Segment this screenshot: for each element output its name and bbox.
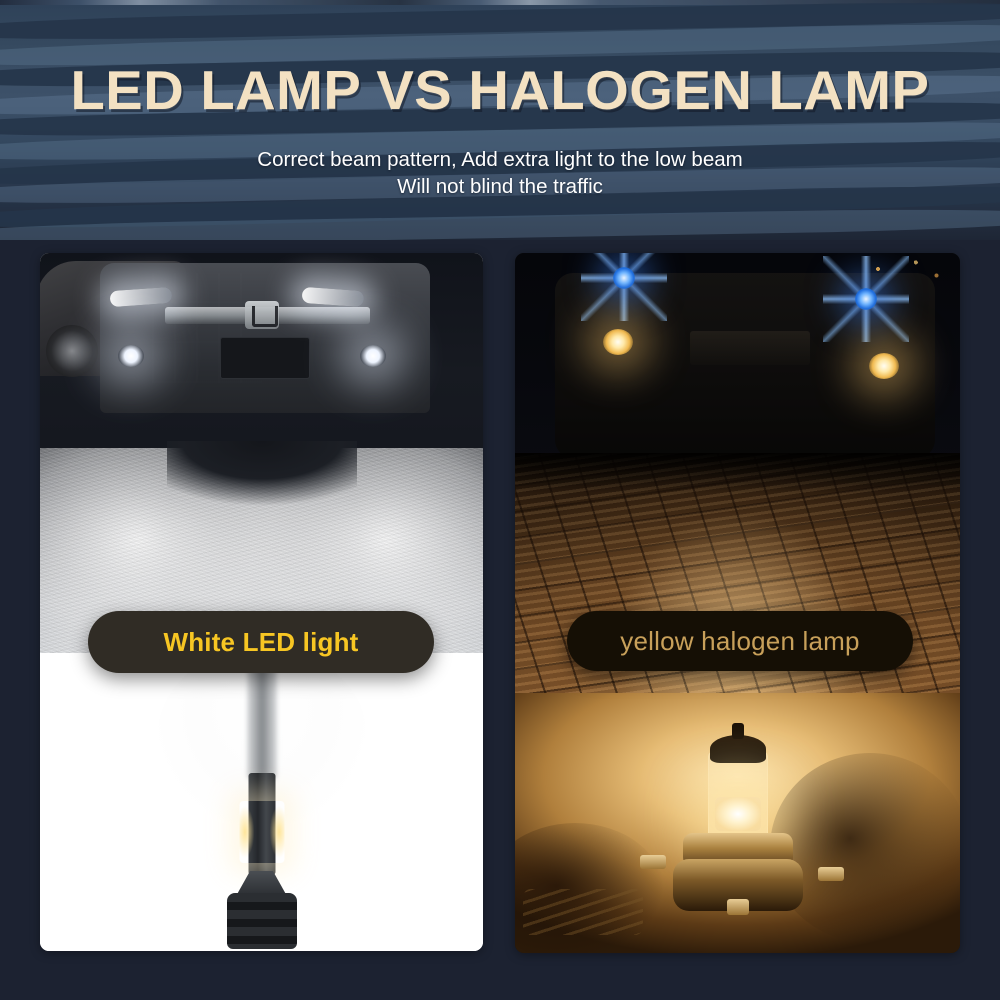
honda-emblem-icon [245, 301, 279, 329]
fog-lamp-right [360, 345, 386, 367]
subtitle-line-2: Will not blind the traffic [0, 173, 1000, 200]
beam-cutoff-notch [167, 441, 357, 531]
label-pill-led-text: White LED light [163, 627, 358, 658]
halogen-lamp-right [869, 353, 899, 379]
license-plate [220, 337, 310, 379]
infographic-root: LED LAMP VS HALOGEN LAMP Correct beam pa… [0, 0, 1000, 1000]
dim-license-plate [690, 331, 810, 365]
panel-halogen[interactable] [515, 253, 960, 953]
wave-band-10 [0, 206, 1000, 240]
bulb-shadow-right [770, 753, 960, 943]
halogen-filament-glow [715, 797, 761, 831]
page-subtitle: Correct beam pattern, Add extra light to… [0, 146, 1000, 200]
label-pill-led[interactable]: White LED light [88, 611, 434, 673]
halogen-tab-bottom [727, 899, 749, 915]
halogen-tab-left [640, 855, 666, 869]
top-edge-strip [0, 0, 1000, 5]
blue-accent-light-right [855, 288, 877, 310]
led-chip-array [239, 801, 284, 863]
subtitle-line-1: Correct beam pattern, Add extra light to… [257, 148, 742, 171]
halogen-bulb-photo [515, 693, 960, 953]
halogen-tab-right [818, 867, 844, 881]
blue-accent-light-left [613, 267, 635, 289]
led-bulb-base [227, 893, 297, 949]
halogen-tip-cap [710, 735, 766, 763]
background-wheel [46, 325, 98, 377]
halogen-night-scene-photo [515, 253, 960, 471]
panel-led[interactable] [40, 253, 483, 951]
pavement-top-shadow [515, 453, 960, 493]
halogen-wiring [523, 889, 643, 935]
page-title: LED LAMP VS HALOGEN LAMP [0, 58, 1000, 122]
label-pill-halogen[interactable]: yellow halogen lamp [567, 611, 913, 671]
brick-pavement-photo [515, 453, 960, 713]
wave-band-1 [0, 0, 1000, 43]
yellow-beam-hotspot [595, 463, 880, 713]
distant-night-lights [860, 257, 950, 287]
fog-lamp-left [118, 345, 144, 367]
led-night-scene-photo [40, 253, 483, 653]
led-bulb-photo [40, 653, 483, 951]
halogen-lamp-left [603, 329, 633, 355]
label-pill-halogen-text: yellow halogen lamp [620, 626, 859, 657]
